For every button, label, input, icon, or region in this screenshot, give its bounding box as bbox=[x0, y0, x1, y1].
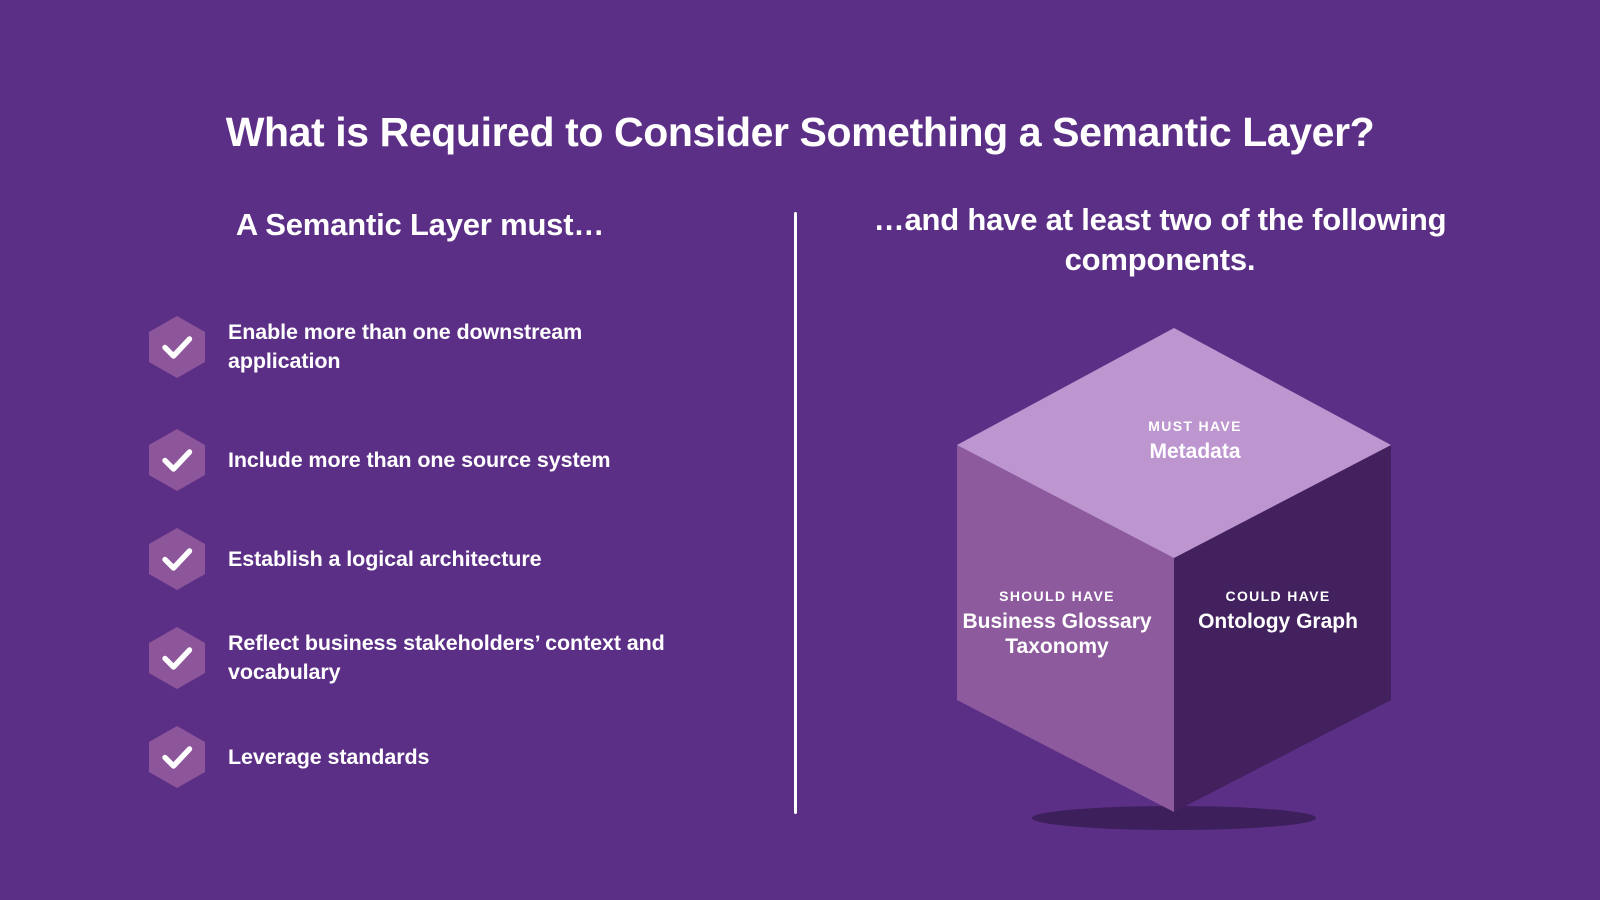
list-item-label: Enable more than one downstream applicat… bbox=[228, 318, 698, 375]
left-column: A Semantic Layer must… bbox=[110, 205, 750, 245]
list-item: Enable more than one downstream applicat… bbox=[148, 315, 748, 379]
list-item-label: Leverage standards bbox=[228, 743, 429, 772]
check-icon bbox=[148, 626, 206, 690]
left-column-heading: A Semantic Layer must… bbox=[120, 205, 720, 245]
list-item-label: Include more than one source system bbox=[228, 446, 610, 475]
right-column-heading: …and have at least two of the following … bbox=[840, 200, 1480, 279]
check-icon bbox=[148, 725, 206, 789]
list-item: Establish a logical architecture bbox=[148, 527, 748, 591]
page-title: What is Required to Consider Something a… bbox=[0, 109, 1600, 156]
list-item: Reflect business stakeholders’ context a… bbox=[148, 626, 748, 690]
components-cube: MUST HAVE Metadata SHOULD HAVE Business … bbox=[930, 300, 1420, 840]
infographic-slide: What is Required to Consider Something a… bbox=[0, 0, 1600, 900]
list-item-label: Establish a logical architecture bbox=[228, 545, 541, 574]
right-column: …and have at least two of the following … bbox=[840, 200, 1500, 279]
check-icon bbox=[148, 428, 206, 492]
check-icon bbox=[148, 527, 206, 591]
list-item: Leverage standards bbox=[148, 725, 748, 789]
column-divider bbox=[794, 212, 797, 814]
check-icon bbox=[148, 315, 206, 379]
list-item-label: Reflect business stakeholders’ context a… bbox=[228, 629, 698, 686]
list-item: Include more than one source system bbox=[148, 428, 748, 492]
